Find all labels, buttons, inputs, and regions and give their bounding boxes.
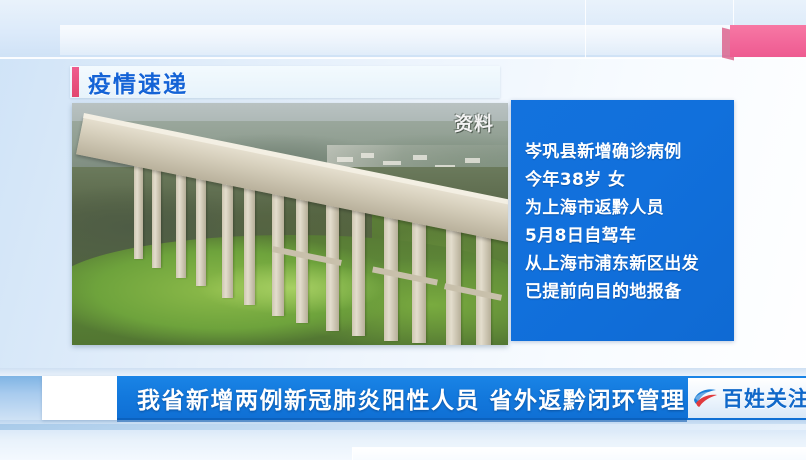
news-photo: 资料 xyxy=(72,103,508,345)
info-panel: 岑巩县新增确诊病例 今年38岁 女 为上海市返黔人员 5月8日自驾车 从上海市浦… xyxy=(511,100,734,341)
badge-label: 疫情速递 xyxy=(88,65,188,99)
channel-logo-label: 百姓关注 xyxy=(722,383,806,413)
background-horizontal-line xyxy=(0,57,806,59)
background-top-highlight xyxy=(60,25,806,55)
background-bottom-card xyxy=(352,447,806,460)
photo-watermark: 资料 xyxy=(454,109,494,136)
ticker-top-shadow xyxy=(0,368,806,376)
pink-decoration-block xyxy=(730,25,806,57)
background-vertical-line-1 xyxy=(585,0,586,58)
info-line: 岑巩县新增确诊病例 xyxy=(525,138,734,166)
info-line: 为上海市返黔人员 xyxy=(525,194,734,222)
background-lower-band-accent xyxy=(0,424,806,430)
segment-badge: 疫情速递 xyxy=(70,66,500,98)
broadcast-frame: 疫情速递 xyxy=(0,0,806,460)
ticker-underline xyxy=(117,418,687,422)
ticker-logo-placeholder xyxy=(42,376,118,420)
info-line: 从上海市浦东新区出发 xyxy=(525,250,734,278)
info-line: 5月8日自驾车 xyxy=(525,222,734,250)
swoosh-icon xyxy=(692,387,718,409)
badge-accent-bar xyxy=(72,67,79,97)
ticker-headline: 我省新增两例新冠肺炎阳性人员 省外返黔闭环管理 xyxy=(137,381,686,415)
info-line: 已提前向目的地报备 xyxy=(525,278,734,306)
channel-logo: 百姓关注 xyxy=(692,383,806,413)
info-line: 今年38岁 女 xyxy=(525,166,734,194)
ticker-left-edge xyxy=(0,376,44,420)
